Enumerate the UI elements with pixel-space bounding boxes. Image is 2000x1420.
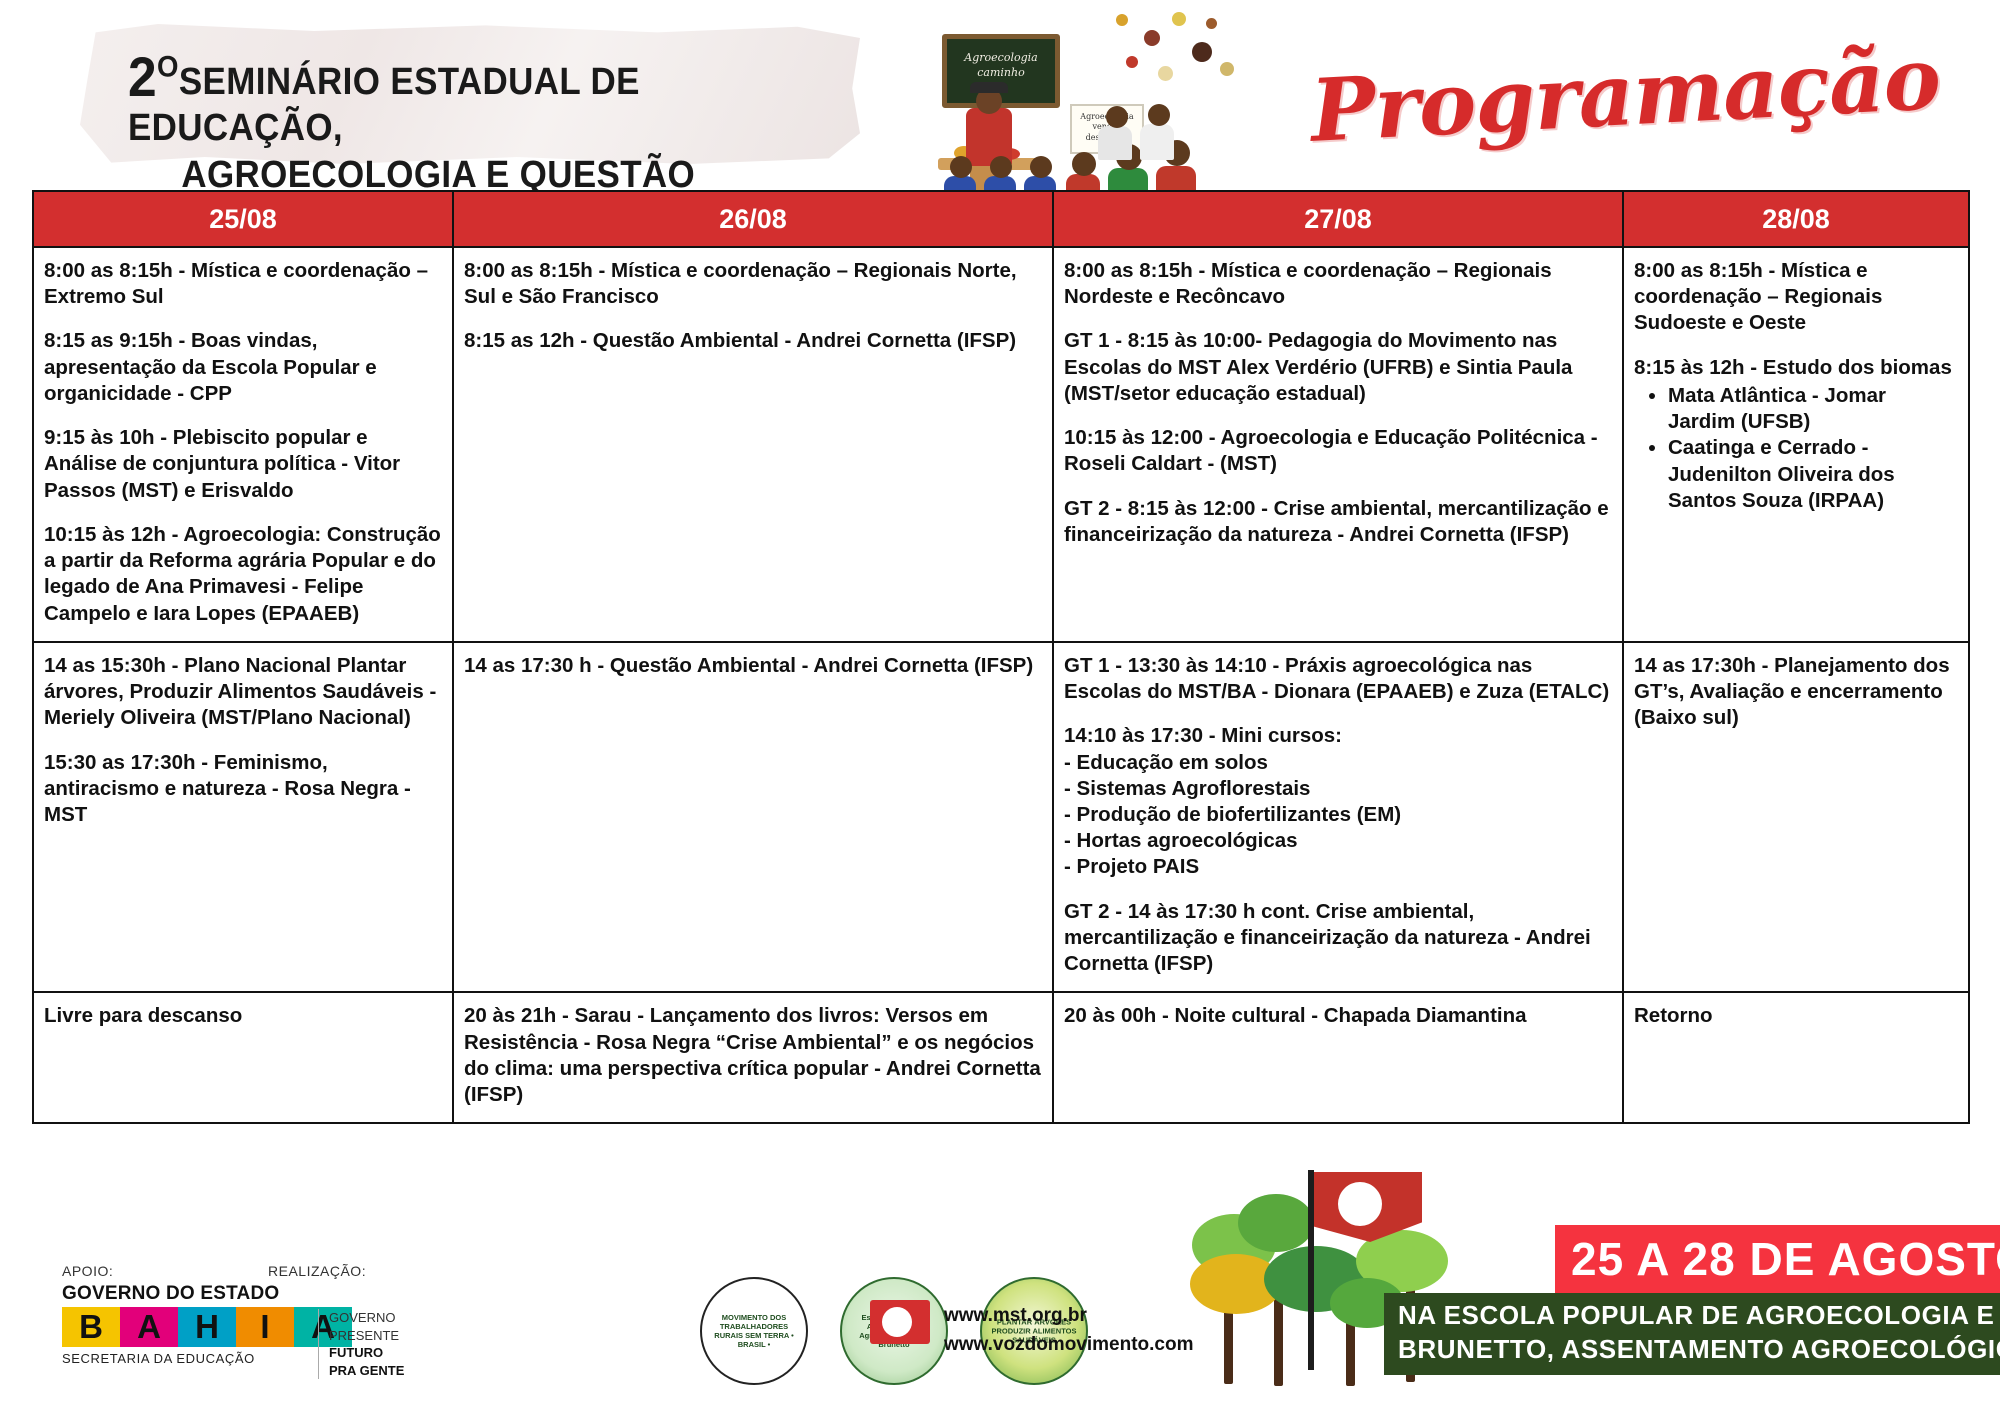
seed-icon (1172, 12, 1186, 26)
apoio-label: APOIO: (62, 1263, 113, 1279)
seed-icon (1220, 62, 1234, 76)
schedule-bullet-item: Mata Atlântica - Jomar Jardim (UFSB) (1668, 383, 1958, 435)
chalkboard-text: Agroecologiacaminho (947, 51, 1055, 81)
schedule-entry: 10:15 às 12:00 - Agroecologia e Educação… (1064, 425, 1612, 477)
website-url-2[interactable]: www.vozdomovimento.com (944, 1331, 1194, 1360)
mst-flag-emblem (882, 1307, 912, 1337)
schedule-bullet-item: Caatinga e Cerrado - Judenilton Oliveira… (1668, 435, 1958, 514)
page-header: 2OSEMINÁRIO ESTADUAL DE EDUCAÇÃO, AGROEC… (0, 0, 2000, 190)
seed-icon (1126, 56, 1138, 68)
schedule-cell-r3-c3: 20 às 00h - Noite cultural - Chapada Dia… (1053, 992, 1623, 1123)
schedule-cell-r2-c3: GT 1 - 13:30 às 14:10 - Práxis agroecoló… (1053, 642, 1623, 993)
seminar-ordinal: 2O (128, 45, 179, 108)
page-footer: APOIO: REALIZAÇÃO: GOVERNO DO ESTADO B A… (0, 1255, 2000, 1415)
bahia-letter-a: A (120, 1307, 178, 1347)
table-row: 8:00 as 8:15h - Mística e coordenação – … (33, 247, 1969, 642)
tree-canopy (1238, 1194, 1314, 1252)
schedule-entry: 10:15 às 12h - Agroecologia: Construção … (44, 522, 442, 627)
bahia-logo-subtitle: SECRETARIA DA EDUCAÇÃO (62, 1351, 362, 1366)
schedule-entry: 9:15 às 10h - Plebiscito popular e Análi… (44, 425, 442, 504)
schedule-entry: 8:15 às 12h - Estudo dos biomas (1634, 355, 1958, 381)
schedule-entry: 8:15 as 9:15h - Boas vindas, apresentaçã… (44, 328, 442, 407)
seed-icon (1158, 66, 1173, 81)
schedule-cell-r3-c4: Retorno (1623, 992, 1969, 1123)
programacao-heading: Programação (1309, 28, 1943, 162)
schedule-cell-r2-c4: 14 as 17:30h - Planejamento dos GT’s, Av… (1623, 642, 1969, 993)
slogan-line-4: PRA GENTE (329, 1363, 404, 1378)
schedule-cell-r1-c4: 8:00 as 8:15h - Mística e coordenação – … (1623, 247, 1969, 642)
schedule-entry: Livre para descanso (44, 1003, 442, 1029)
title-line-1: SEMINÁRIO ESTADUAL DE EDUCAÇÃO, (128, 61, 640, 149)
slogan-line-3: FUTURO (329, 1345, 383, 1360)
adult-head (1148, 104, 1170, 126)
bahia-letter-h: H (178, 1307, 236, 1347)
seed-icon (1206, 18, 1217, 29)
bahia-letter-b: B (62, 1307, 120, 1347)
column-header-day-2: 26/08 (453, 191, 1053, 247)
schedule-table-wrapper: 25/08 26/08 27/08 28/08 8:00 as 8:15h - … (32, 190, 1968, 1124)
bahia-letter-i: I (236, 1307, 294, 1347)
schedule-cell-r2-c2: 14 as 17:30 h - Questão Ambiental - Andr… (453, 642, 1053, 993)
mst-flag-emblem (1338, 1182, 1382, 1226)
table-header-row: 25/08 26/08 27/08 28/08 (33, 191, 1969, 247)
realizacao-label: REALIZAÇÃO: (268, 1263, 366, 1279)
student-figure (1140, 124, 1174, 160)
schedule-entry: 14 as 15:30h - Plano Nacional Plantar ár… (44, 653, 442, 732)
slogan-line-2: PRESENTE (329, 1327, 404, 1345)
student-head (990, 156, 1012, 178)
schedule-entry: 14:10 às 17:30 - Mini cursos:- Educação … (1064, 723, 1612, 880)
schedule-entry: GT 1 - 13:30 às 14:10 - Práxis agroecoló… (1064, 653, 1612, 705)
schedule-entry: GT 1 - 8:15 às 10:00- Pedagogia do Movim… (1064, 328, 1612, 407)
student-head (1072, 152, 1096, 176)
schedule-body: 8:00 as 8:15h - Mística e coordenação – … (33, 247, 1969, 1123)
mst-logo: MOVIMENTO DOS TRABALHADORES RURAIS SEM T… (700, 1277, 808, 1385)
schedule-entry: 14 as 17:30h - Planejamento dos GT’s, Av… (1634, 653, 1958, 732)
schedule-entry: 15:30 as 17:30h - Feminismo, antiracismo… (44, 750, 442, 829)
location-line-2: BRUNETTO, ASSENTAMENTO AGROECOLÓGICO JAC… (1398, 1333, 2000, 1367)
schedule-entry: 20 às 00h - Noite cultural - Chapada Dia… (1064, 1003, 1612, 1029)
column-header-day-4: 28/08 (1623, 191, 1969, 247)
schedule-cell-r1-c3: 8:00 as 8:15h - Mística e coordenação – … (1053, 247, 1623, 642)
bahia-logo-word: B A H I A (62, 1307, 352, 1347)
schedule-entry: 8:00 as 8:15h - Mística e coordenação – … (1634, 258, 1958, 337)
mst-logo-caption: MOVIMENTO DOS TRABALHADORES RURAIS SEM T… (702, 1313, 806, 1349)
schedule-entry: GT 2 - 8:15 às 12:00 - Crise ambiental, … (1064, 496, 1612, 548)
schedule-entry: 8:15 as 12h - Questão Ambiental - Andrei… (464, 328, 1042, 354)
schedule-cell-r1-c2: 8:00 as 8:15h - Mística e coordenação – … (453, 247, 1053, 642)
column-header-day-3: 27/08 (1053, 191, 1623, 247)
adult-head (1106, 106, 1128, 128)
teacher-hat (970, 82, 1008, 93)
schedule-entry: 8:00 as 8:15h - Mística e coordenação – … (44, 258, 442, 310)
bahia-slogan: GOVERNO PRESENTE FUTURO PRA GENTE (318, 1309, 404, 1379)
seed-icon (1116, 14, 1128, 26)
seed-icon (1144, 30, 1160, 46)
table-row: Livre para descanso20 às 21h - Sarau - L… (33, 992, 1969, 1123)
seed-icon (1192, 42, 1212, 62)
flag-pole (1308, 1170, 1314, 1370)
schedule-cell-r2-c1: 14 as 15:30h - Plano Nacional Plantar ár… (33, 642, 453, 993)
schedule-entry: 14 as 17:30 h - Questão Ambiental - Andr… (464, 653, 1042, 679)
bahia-logo-title: GOVERNO DO ESTADO (62, 1283, 362, 1305)
website-urls: www.mst.org.br www.vozdomovimento.com (944, 1302, 1194, 1359)
website-url-1[interactable]: www.mst.org.br (944, 1302, 1194, 1331)
schedule-bullet-list: Mata Atlântica - Jomar Jardim (UFSB)Caat… (1634, 383, 1958, 514)
schedule-cell-r1-c1: 8:00 as 8:15h - Mística e coordenação – … (33, 247, 453, 642)
schedule-table: 25/08 26/08 27/08 28/08 8:00 as 8:15h - … (32, 190, 1970, 1124)
date-banner: 25 A 28 DE AGOSTO (1555, 1225, 2000, 1295)
location-line-1: NA ESCOLA POPULAR DE AGROECOLOGIA E AGRO… (1398, 1299, 2000, 1333)
mst-flag-icon (870, 1300, 930, 1344)
schedule-entry: GT 2 - 14 às 17:30 h cont. Crise ambient… (1064, 899, 1612, 978)
schedule-cell-r3-c2: 20 às 21h - Sarau - Lançamento dos livro… (453, 992, 1053, 1123)
schedule-entry: Retorno (1634, 1003, 1958, 1029)
table-row: 14 as 15:30h - Plano Nacional Plantar ár… (33, 642, 1969, 993)
schedule-cell-r3-c1: Livre para descanso (33, 992, 453, 1123)
schedule-entry: 8:00 as 8:15h - Mística e coordenação – … (464, 258, 1042, 310)
location-banner: NA ESCOLA POPULAR DE AGROECOLOGIA E AGRO… (1384, 1293, 2000, 1375)
student-head (1030, 156, 1052, 178)
column-header-day-1: 25/08 (33, 191, 453, 247)
student-figure (1098, 126, 1132, 160)
student-head (950, 156, 972, 178)
bahia-government-logo: GOVERNO DO ESTADO B A H I A SECRETARIA D… (62, 1283, 362, 1366)
schedule-entry: 8:00 as 8:15h - Mística e coordenação – … (1064, 258, 1612, 310)
slogan-line-1: GOVERNO (329, 1309, 404, 1327)
schedule-entry: 20 às 21h - Sarau - Lançamento dos livro… (464, 1003, 1042, 1108)
